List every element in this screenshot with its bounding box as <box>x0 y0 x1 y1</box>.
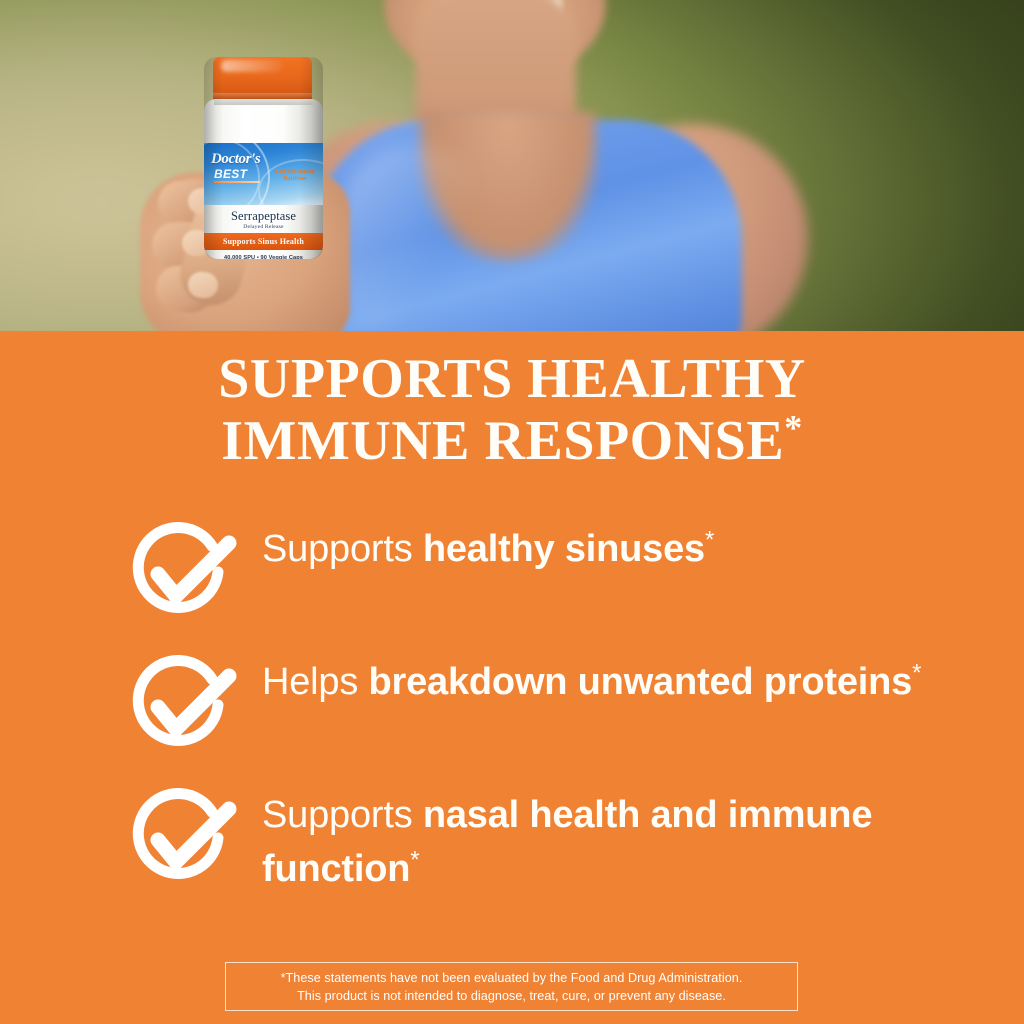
benefit-asterisk: * <box>912 659 921 686</box>
headline-asterisk: * <box>784 407 803 447</box>
list-item: Helps breakdown unwanted proteins* <box>128 649 928 757</box>
benefit-emphasis-text: healthy sinuses <box>423 528 705 570</box>
disclaimer-line-2: This product is not intended to diagnose… <box>297 989 726 1003</box>
benefits-list: Supports healthy sinuses* Helps breakdow… <box>128 516 928 921</box>
model-figure <box>298 0 768 331</box>
product-marketing-image: Doctor's BEST Science-Based Nutrition Se… <box>0 0 1024 1024</box>
bottle-shading <box>204 57 323 259</box>
check-circle-icon <box>128 520 240 624</box>
benefit-lead-text: Helps <box>262 661 369 703</box>
list-item-label: Supports healthy sinuses* <box>262 516 714 576</box>
check-circle-icon <box>128 786 240 890</box>
tank-top-highlight <box>338 144 488 331</box>
benefit-lead-text: Supports <box>262 528 423 570</box>
headline-line-2: IMMUNE RESPONSE <box>221 410 784 472</box>
hero-photo: Doctor's BEST Science-Based Nutrition Se… <box>0 0 1024 331</box>
list-item-label: Supports nasal health and immune functio… <box>262 782 928 896</box>
check-circle-icon <box>128 653 240 757</box>
list-item: Supports nasal health and immune functio… <box>128 782 928 896</box>
list-item-label: Helps breakdown unwanted proteins* <box>262 649 921 709</box>
benefit-emphasis-text: breakdown unwanted proteins <box>369 661 913 703</box>
fda-disclaimer-box: *These statements have not been evaluate… <box>225 962 798 1011</box>
disclaimer-line-1: *These statements have not been evaluate… <box>281 971 743 985</box>
supplement-bottle: Doctor's BEST Science-Based Nutrition Se… <box>204 57 323 259</box>
headline-line-1: SUPPORTS HEALTHY <box>218 348 805 410</box>
benefit-lead-text: Supports <box>262 794 423 836</box>
benefit-asterisk: * <box>705 526 714 553</box>
fda-disclaimer-text: *These statements have not been evaluate… <box>281 969 743 1005</box>
page-title: SUPPORTS HEALTHY IMMUNE RESPONSE* <box>0 348 1024 472</box>
benefit-asterisk: * <box>410 846 419 873</box>
list-item: Supports healthy sinuses* <box>128 516 928 624</box>
